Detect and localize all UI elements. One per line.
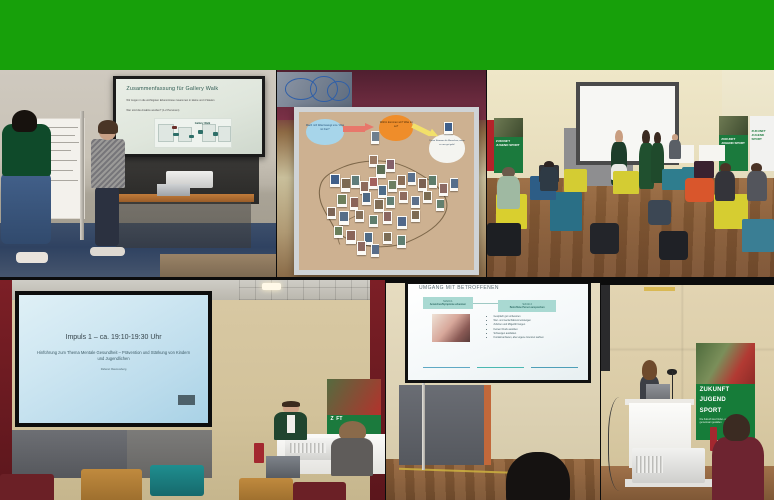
step-1-chip: Schritt 1 Anzeichen/Symptome erkennen	[423, 297, 473, 309]
attendee	[714, 163, 737, 200]
attendee	[539, 161, 559, 190]
slide-rule	[477, 367, 524, 369]
photo-pinboard-map: Mach mit! Was bewegt uns / Was ist hier?…	[277, 70, 486, 277]
projection-screen: Impuls 1 – ca. 19:10-19:30 Uhr Hinführun…	[15, 291, 211, 427]
projection-screen: UMGANG MIT BETROFFENEN Schritt 1 Anzeich…	[405, 283, 591, 383]
presenter	[88, 124, 127, 252]
person-green-hoodie	[0, 124, 55, 261]
step-2-chip: Schritt 2 Betroffene Person ansprechen	[498, 300, 556, 312]
ceiling-tiles	[239, 280, 385, 300]
cable	[608, 397, 637, 492]
chair-teal	[742, 219, 774, 252]
banner-green-left: ZUKUNFT JUGEND SPORT	[494, 118, 523, 174]
photo-workshop-gallery-walk: Zusammenfassung für Gallery Walk Wir zei…	[0, 70, 276, 277]
banner-line-2: JUGEND	[700, 397, 752, 404]
projector	[632, 448, 705, 482]
slide-line-1: Wir zeigen in die wichtigsten Erkenntnis…	[126, 99, 250, 103]
chair-dark-red-front	[0, 474, 54, 500]
slide-diagram: Gallery Walk	[154, 118, 232, 148]
step-1-text: Anzeichen/Symptome erkennen	[430, 303, 466, 306]
step-2-text: Betroffene Person ansprechen	[510, 306, 545, 309]
photo-hall-audience: ZUKUNFT JUGEND SPORT ZUKUNFT JUGEND SPOR…	[487, 70, 774, 277]
wood-floor-strip	[160, 254, 276, 277]
water-bottle	[254, 443, 264, 463]
slide-title: Zusammenfassung für Gallery Walk	[126, 86, 253, 92]
slide-rule	[423, 367, 470, 369]
chair-teal-front	[150, 465, 204, 496]
foreground-person-head	[506, 452, 570, 500]
orange-door-frame	[484, 385, 490, 465]
slide-rule	[531, 367, 578, 369]
seated-person-front	[331, 421, 373, 474]
chair-dark-red-front-2	[293, 482, 347, 500]
attendee	[496, 167, 522, 208]
foreground-seated-person	[712, 414, 764, 500]
screen-stand-pole	[422, 383, 425, 470]
red-wall-left	[0, 280, 12, 500]
slide-line-2: Wer sind die Ansätze werden? (1-2 Person…	[126, 109, 250, 112]
red-arrow-icon	[343, 123, 375, 134]
screen-stand-pole	[80, 111, 84, 239]
slide-canvas: UMGANG MIT BETROFFENEN Schritt 1 Anzeich…	[408, 284, 588, 380]
banner-text: ZUKUNFT JUGEND SPORT	[496, 140, 521, 148]
laptop	[266, 456, 301, 478]
backpack	[590, 223, 619, 254]
banner-text: ZUKUNFT JUGEND SPORT	[752, 130, 773, 141]
slide-subtitle: Hinführung zum Thema Mentale Gesundheit …	[34, 350, 192, 362]
chair-wood-front-2	[239, 478, 293, 500]
chair-yellow	[564, 169, 587, 192]
photo-umgang-slide: UMGANG MIT BETROFFENEN Schritt 1 Anzeich…	[386, 283, 600, 500]
step-connector	[473, 303, 498, 304]
photo-collage-page: Zusammenfassung für Gallery Walk Wir zei…	[0, 0, 774, 500]
slide-logo	[178, 395, 195, 405]
note-blue-text: Mach mit! Was bewegt uns / Was ist hier?	[306, 124, 345, 132]
backpack	[659, 231, 688, 260]
person-at-table	[668, 134, 682, 159]
wall-dark-panel	[399, 385, 485, 465]
photo-speaker-lectern: ZUKUNFT JUGEND SPORT Die Zukunft des Kin…	[601, 285, 774, 500]
chair-yellow	[613, 171, 639, 194]
banner-line-1: ZUKUNFT	[700, 387, 752, 394]
slide-canvas: Impuls 1 – ca. 19:10-19:30 Uhr Hinführun…	[19, 295, 207, 423]
wall-mural	[277, 72, 352, 107]
attendee	[745, 163, 768, 200]
jacket-orange	[685, 178, 714, 203]
ceiling-lamp	[262, 283, 281, 290]
green-banner	[0, 0, 774, 70]
slide-photo	[432, 314, 470, 343]
note-orange-circle: Wohin kommen wir? Was ist so?	[379, 115, 412, 140]
chair-dark	[694, 161, 714, 178]
side-table	[699, 145, 725, 162]
table-underside	[116, 202, 251, 248]
slide-title: Impuls 1 – ca. 19:10-19:30 Uhr	[38, 334, 189, 341]
photo-impuls-slide: Impuls 1 – ca. 19:10-19:30 Uhr Hinführun…	[0, 280, 385, 500]
laptop	[157, 184, 190, 196]
bag-dark	[487, 223, 521, 256]
backpack	[648, 200, 671, 225]
wall-trim	[644, 287, 675, 291]
slide-author: Referat: Rasmusberg	[34, 368, 192, 371]
speaker-person	[273, 403, 308, 438]
chair-wood-front	[81, 469, 143, 500]
projection-screen-edge	[601, 285, 610, 371]
note-orange-text: Wohin kommen wir? Was ist so?	[379, 121, 412, 129]
slide-title: UMGANG MIT BETROFFENEN	[419, 285, 499, 291]
diagram-label: Gallery Walk	[195, 122, 210, 125]
projection-screen: Zusammenfassung für Gallery Walk Wir zei…	[113, 76, 265, 157]
pinboard: Mach mit! Was bewegt uns / Was ist hier?…	[294, 107, 480, 274]
slide-bullet-list: Gespräch gut vorbereiten Wer- und wertsc…	[488, 315, 578, 340]
slide-bullet: Kontakt anbieten, aber eigene Grenzen wa…	[494, 336, 578, 340]
